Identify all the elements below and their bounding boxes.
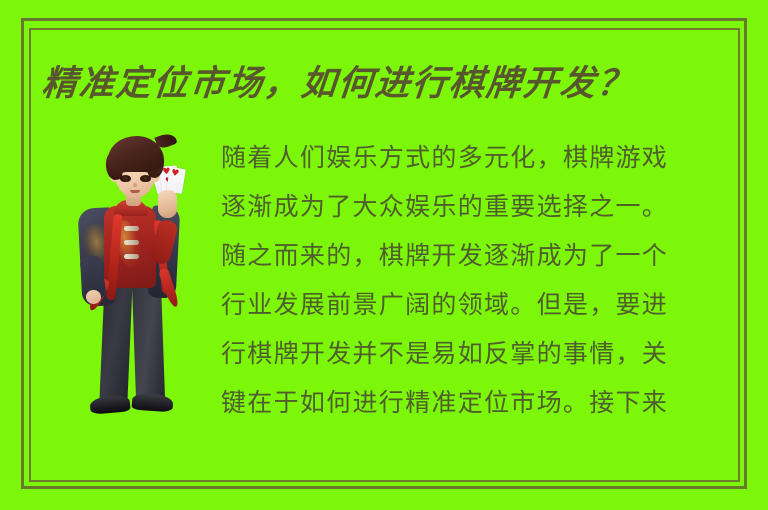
frog-closure <box>124 254 139 259</box>
body-line: 行业发展前景广阔的领域。但是，要进 <box>221 280 733 329</box>
left-hand <box>86 290 101 304</box>
body-line: 行棋牌开发并不是易如反掌的事情，关 <box>221 329 733 378</box>
left-shoe <box>89 394 130 414</box>
nose <box>133 183 137 187</box>
body-line: 随之而来的，棋牌开发逐渐成为了一个 <box>221 231 733 280</box>
poster-canvas: 精准定位市场，如何进行棋牌开发？ 随着人们娱乐方式的多元化，棋牌游戏 逐渐成为了… <box>0 0 768 510</box>
frog-closure <box>124 240 139 245</box>
body-line: 随着人们娱乐方式的多元化，棋牌游戏 <box>221 133 733 182</box>
body-line: 键在于如何进行精准定位市场。接下来 <box>221 378 733 427</box>
mouth <box>130 190 140 193</box>
page-title: 精准定位市场，如何进行棋牌开发？ <box>40 62 724 106</box>
character-illustration: ♥ ♥ ♥ ♥ <box>58 128 210 433</box>
heart-icon: ♥ <box>170 169 179 179</box>
right-shoe <box>131 393 173 413</box>
right-hand <box>158 190 177 218</box>
frog-closure <box>124 226 139 231</box>
article-body: 随着人们娱乐方式的多元化，棋牌游戏 逐渐成为了大众娱乐的重要选择之一。 随之而来… <box>221 133 733 427</box>
body-line: 逐渐成为了大众娱乐的重要选择之一。 <box>221 182 733 231</box>
